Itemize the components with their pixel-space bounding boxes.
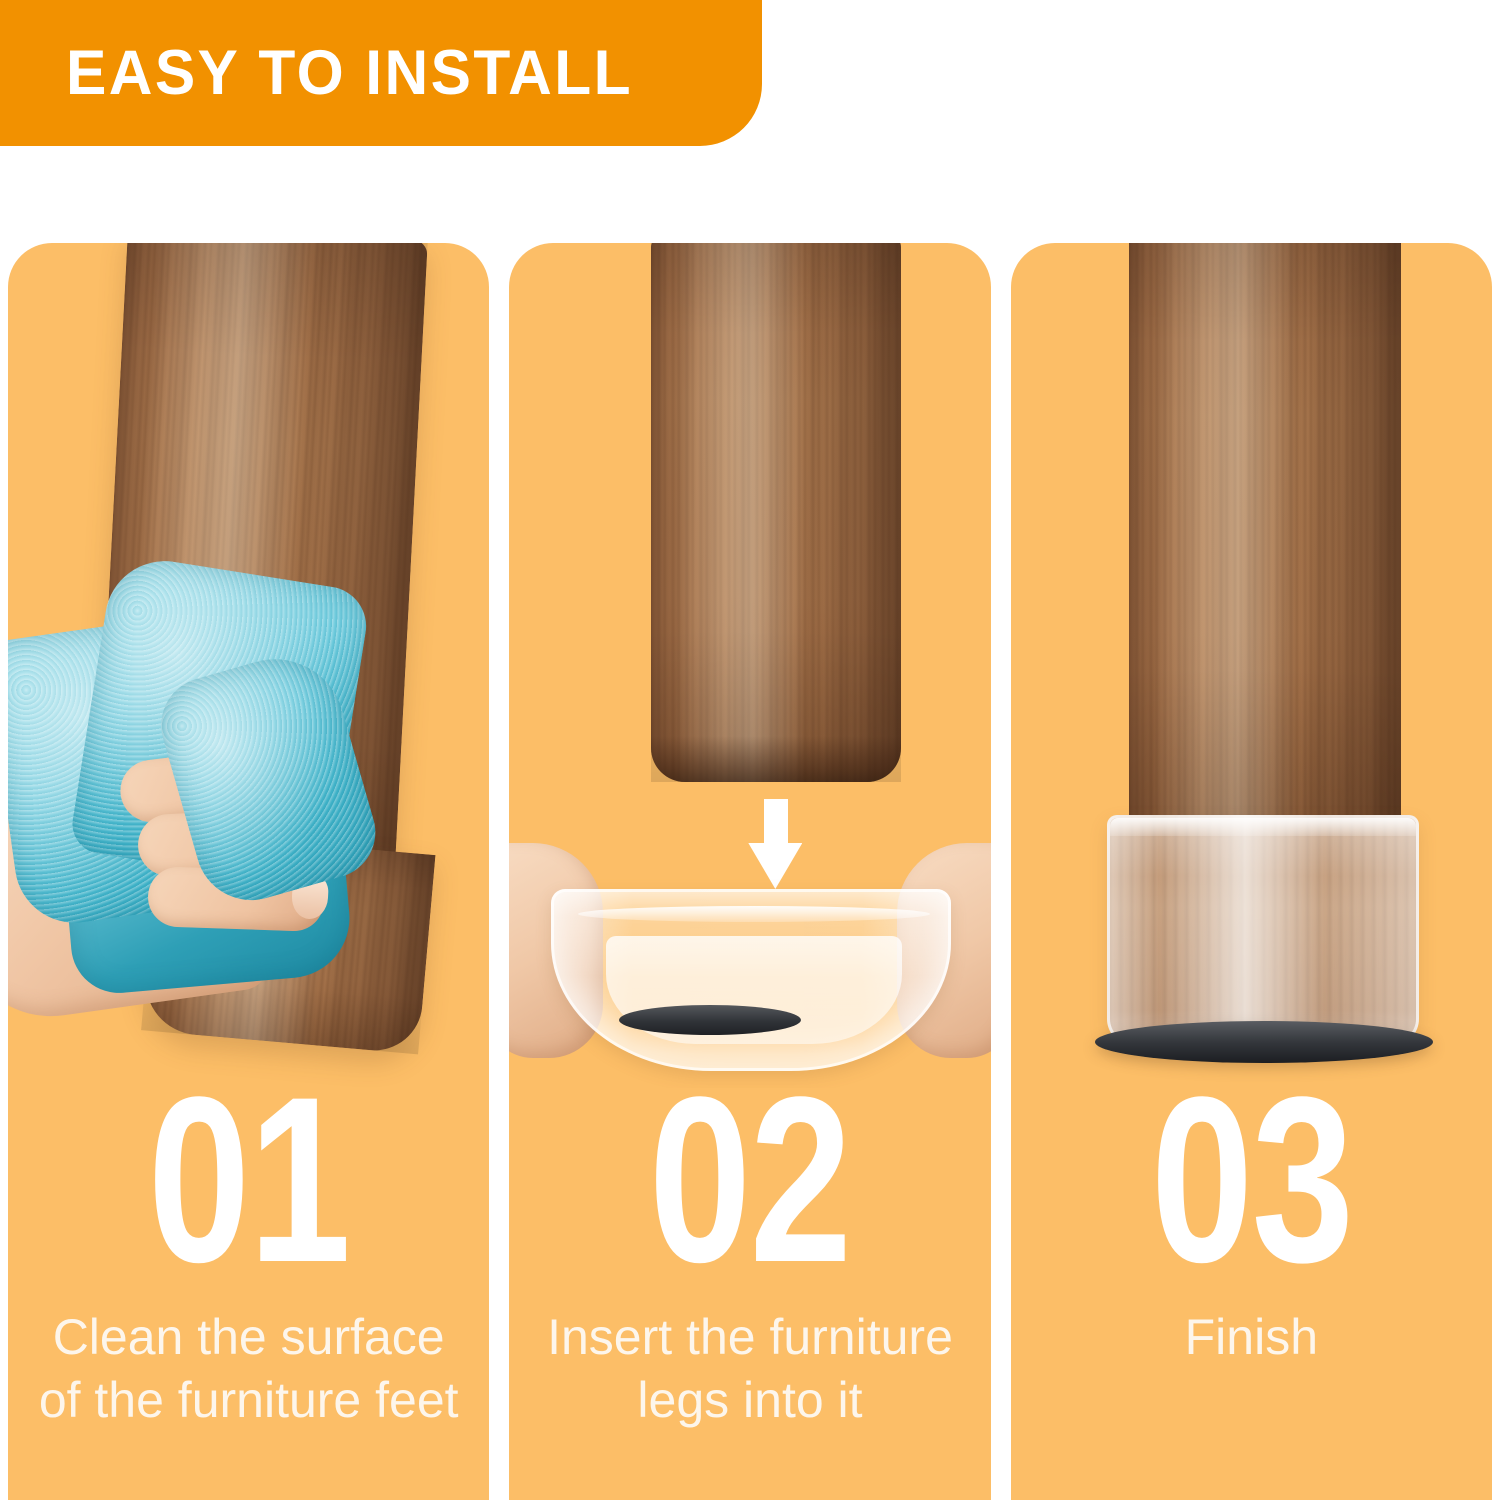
wooden-furniture-leg-icon bbox=[1129, 243, 1401, 835]
step-03-photo bbox=[1011, 243, 1492, 1088]
header-banner: EASY TO INSTALL bbox=[0, 0, 762, 146]
step-text-02: Insert the furniture legs into it bbox=[525, 1306, 974, 1432]
steps-row: 01 Clean the surface of the furniture fe… bbox=[0, 243, 1500, 1500]
step-panel-03: 03 Finish bbox=[1011, 243, 1492, 1500]
arrow-shaft bbox=[764, 799, 788, 847]
wooden-furniture-leg-icon bbox=[651, 243, 901, 782]
banner-title: EASY TO INSTALL bbox=[66, 37, 633, 109]
step-02-photo bbox=[509, 243, 990, 1088]
step-01-photo bbox=[8, 243, 489, 1088]
step-number-03: 03 bbox=[1076, 1088, 1426, 1272]
step-panel-02: 02 Insert the furniture legs into it bbox=[509, 243, 990, 1500]
clear-silicone-cap-icon bbox=[551, 889, 951, 1071]
cap-rim bbox=[578, 906, 930, 922]
cap-rim bbox=[1110, 818, 1416, 836]
cleaning-hand-group bbox=[8, 543, 418, 1023]
step-02-caption: 02 Insert the furniture legs into it bbox=[509, 1088, 990, 1432]
black-felt-pad-icon bbox=[619, 1005, 801, 1035]
step-number-02: 02 bbox=[575, 1088, 925, 1272]
step-number-01: 01 bbox=[73, 1088, 423, 1272]
clear-silicone-cap-installed-icon bbox=[1107, 815, 1419, 1045]
step-text-01: Clean the surface of the furniture feet bbox=[24, 1306, 473, 1432]
step-text-03: Finish bbox=[1027, 1306, 1476, 1369]
step-panel-01: 01 Clean the surface of the furniture fe… bbox=[8, 243, 489, 1500]
step-01-caption: 01 Clean the surface of the furniture fe… bbox=[8, 1088, 489, 1432]
step-03-caption: 03 Finish bbox=[1011, 1088, 1492, 1369]
